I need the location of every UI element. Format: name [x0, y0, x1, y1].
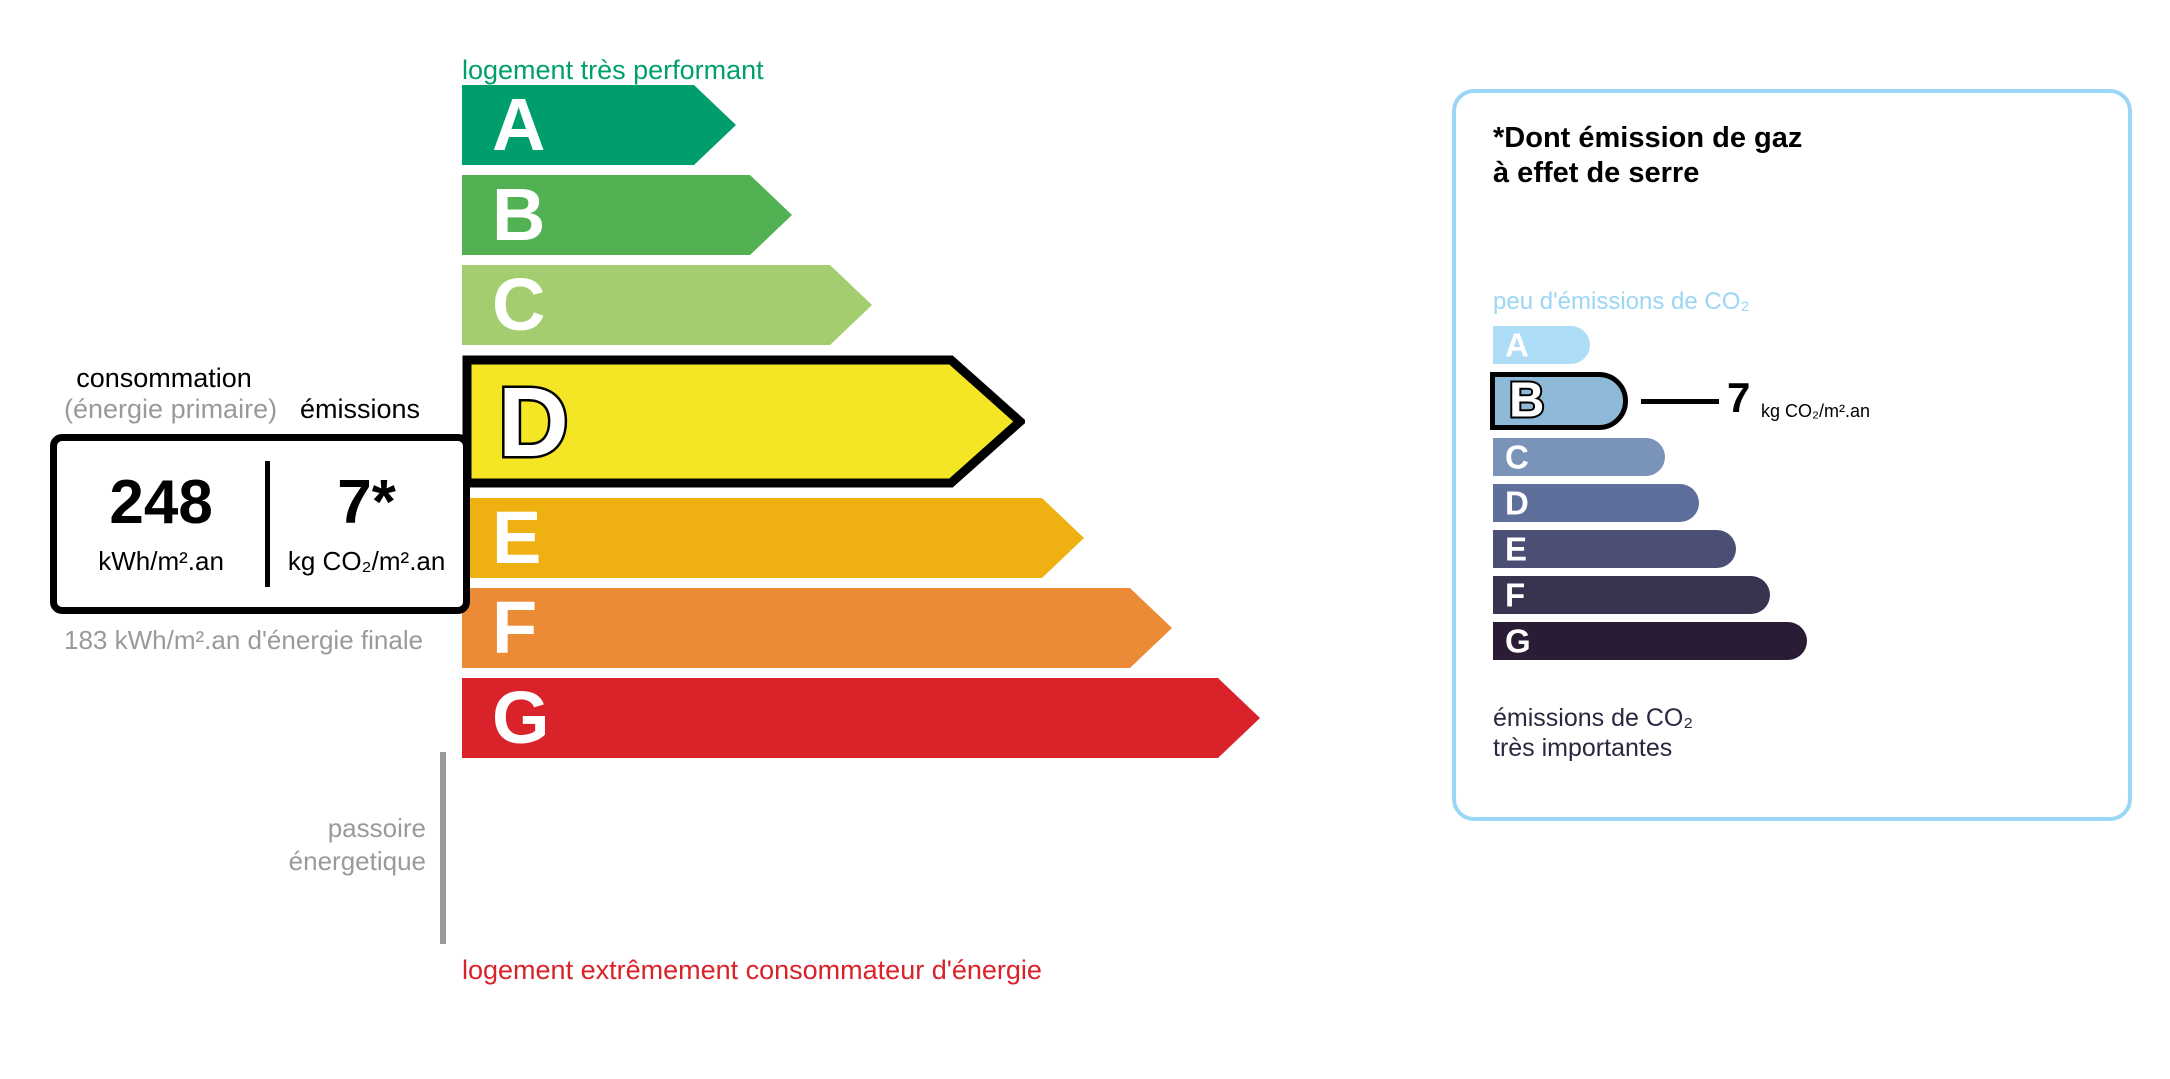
energy-band-arrow-f: [462, 588, 1172, 668]
co2-bar-g[interactable]: G: [1493, 622, 1807, 660]
energy-band-letter-f: F: [492, 591, 537, 665]
co2-panel-title: *Dont émission de gaz à effet de serre: [1493, 121, 1802, 192]
consumption-label-sub: (énergie primaire): [64, 394, 264, 425]
co2-bar-d[interactable]: D: [1493, 484, 1699, 522]
energy-performance-diagram: logement très performant ABCDEFG logemen…: [0, 0, 1380, 1079]
co2-selected-value: 7: [1727, 377, 1750, 419]
co2-bar-letter-d: D: [1505, 487, 1529, 520]
co2-bar-letter-e: E: [1505, 533, 1527, 566]
emissions-label: émissions: [300, 394, 420, 425]
co2-bar-c[interactable]: C: [1493, 438, 1665, 476]
co2-bar-letter-c: C: [1505, 441, 1529, 474]
co2-emission-unit: kg CO₂/m².an: [288, 546, 445, 577]
co2-bar-fill-c: C: [1493, 438, 1665, 476]
primary-energy-cell: 248 kWh/m².an: [57, 441, 265, 607]
co2-leader-line: [1641, 399, 1719, 404]
co2-bar-fill-b: B: [1490, 372, 1628, 430]
co2-bar-fill-g: G: [1493, 622, 1807, 660]
co2-bar-letter-a: A: [1505, 329, 1529, 362]
co2-bar-fill-f: F: [1493, 576, 1770, 614]
co2-emission-cell: 7* kg CO₂/m².an: [270, 441, 463, 607]
energy-band-letter-b: B: [492, 178, 545, 252]
passoire-label: passoire énergetique: [240, 812, 426, 877]
co2-bar-a[interactable]: A: [1493, 326, 1590, 364]
primary-energy-value: 248: [109, 472, 212, 534]
energy-band-f[interactable]: F: [462, 588, 1172, 668]
energy-band-c[interactable]: C: [462, 265, 872, 345]
energy-top-caption: logement très performant: [462, 55, 764, 86]
co2-bar-letter-b: B: [1509, 377, 1544, 426]
energy-band-letter-d: D: [498, 373, 569, 471]
energy-band-letter-e: E: [492, 501, 541, 575]
energy-band-letter-g: G: [492, 681, 550, 755]
energy-band-g[interactable]: G: [462, 678, 1260, 758]
passoire-bracket: [440, 752, 446, 944]
co2-bar-fill-e: E: [1493, 530, 1736, 568]
energy-band-a[interactable]: A: [462, 85, 736, 165]
co2-bar-letter-f: F: [1505, 579, 1525, 612]
co2-emissions-panel: *Dont émission de gaz à effet de serre p…: [1452, 89, 2132, 821]
energy-band-arrow-g: [462, 678, 1260, 758]
energy-bottom-caption: logement extrêmement consommateur d'éner…: [462, 955, 1042, 986]
primary-energy-unit: kWh/m².an: [98, 546, 224, 577]
energy-band-arrow-e: [462, 498, 1084, 578]
co2-bar-fill-a: A: [1493, 326, 1590, 364]
energy-band-e[interactable]: E: [462, 498, 1084, 578]
co2-bar-letter-g: G: [1505, 625, 1531, 658]
co2-bar-f[interactable]: F: [1493, 576, 1770, 614]
co2-bottom-caption: émissions de CO₂ très importantes: [1493, 703, 1693, 763]
energy-band-letter-a: A: [492, 88, 545, 162]
energy-value-box: 248 kWh/m².an 7* kg CO₂/m².an: [50, 434, 470, 614]
consumption-label: consommation (énergie primaire): [64, 363, 264, 425]
co2-selected-unit: kg CO₂/m².an: [1761, 402, 1870, 420]
co2-bar-b[interactable]: B: [1493, 372, 1628, 430]
energy-band-b[interactable]: B: [462, 175, 792, 255]
co2-emission-value: 7*: [337, 472, 396, 534]
co2-bar-e[interactable]: E: [1493, 530, 1736, 568]
co2-top-caption: peu d'émissions de CO₂: [1493, 288, 1750, 316]
energy-band-d[interactable]: D: [462, 355, 1025, 488]
co2-bar-fill-d: D: [1493, 484, 1699, 522]
energy-band-letter-c: C: [492, 268, 545, 342]
consumption-label-main: consommation: [76, 363, 252, 393]
final-energy-label: 183 kWh/m².an d'énergie finale: [64, 624, 423, 657]
